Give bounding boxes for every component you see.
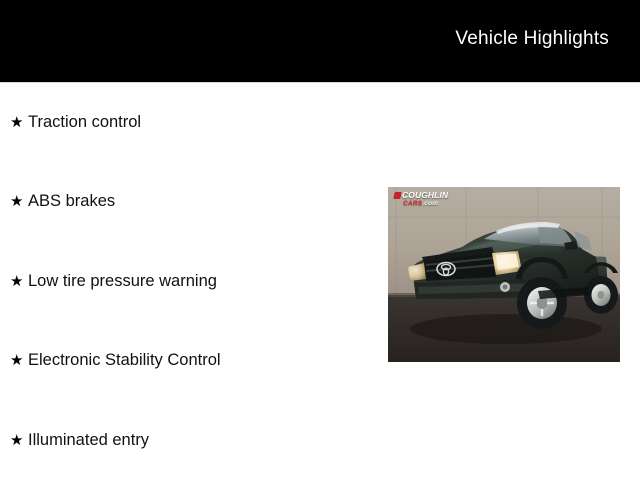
highlight-label: Low tire pressure warning bbox=[28, 273, 217, 290]
vehicle-photo-image bbox=[388, 187, 620, 362]
highlight-label: Traction control bbox=[28, 114, 141, 131]
star-bullet-icon: ★ bbox=[10, 274, 26, 289]
star-bullet-icon: ★ bbox=[10, 433, 26, 448]
list-item: ★ ABS brakes bbox=[10, 193, 115, 210]
vehicle-photo: COUGHLIN CARS.com bbox=[388, 187, 620, 362]
list-item: ★ Low tire pressure warning bbox=[10, 273, 217, 290]
star-bullet-icon: ★ bbox=[10, 353, 26, 368]
list-item: ★ Illuminated entry bbox=[10, 432, 149, 449]
highlight-label: ABS brakes bbox=[28, 193, 115, 210]
list-item: ★ Traction control bbox=[10, 114, 141, 131]
highlight-label: Illuminated entry bbox=[28, 432, 149, 449]
page-header: Vehicle Highlights bbox=[0, 0, 640, 82]
highlight-label: Electronic Stability Control bbox=[28, 352, 221, 369]
header-divider bbox=[0, 82, 640, 83]
star-bullet-icon: ★ bbox=[10, 194, 26, 209]
star-bullet-icon: ★ bbox=[10, 115, 26, 130]
page-title: Vehicle Highlights bbox=[455, 28, 609, 50]
list-item: ★ Electronic Stability Control bbox=[10, 352, 221, 369]
